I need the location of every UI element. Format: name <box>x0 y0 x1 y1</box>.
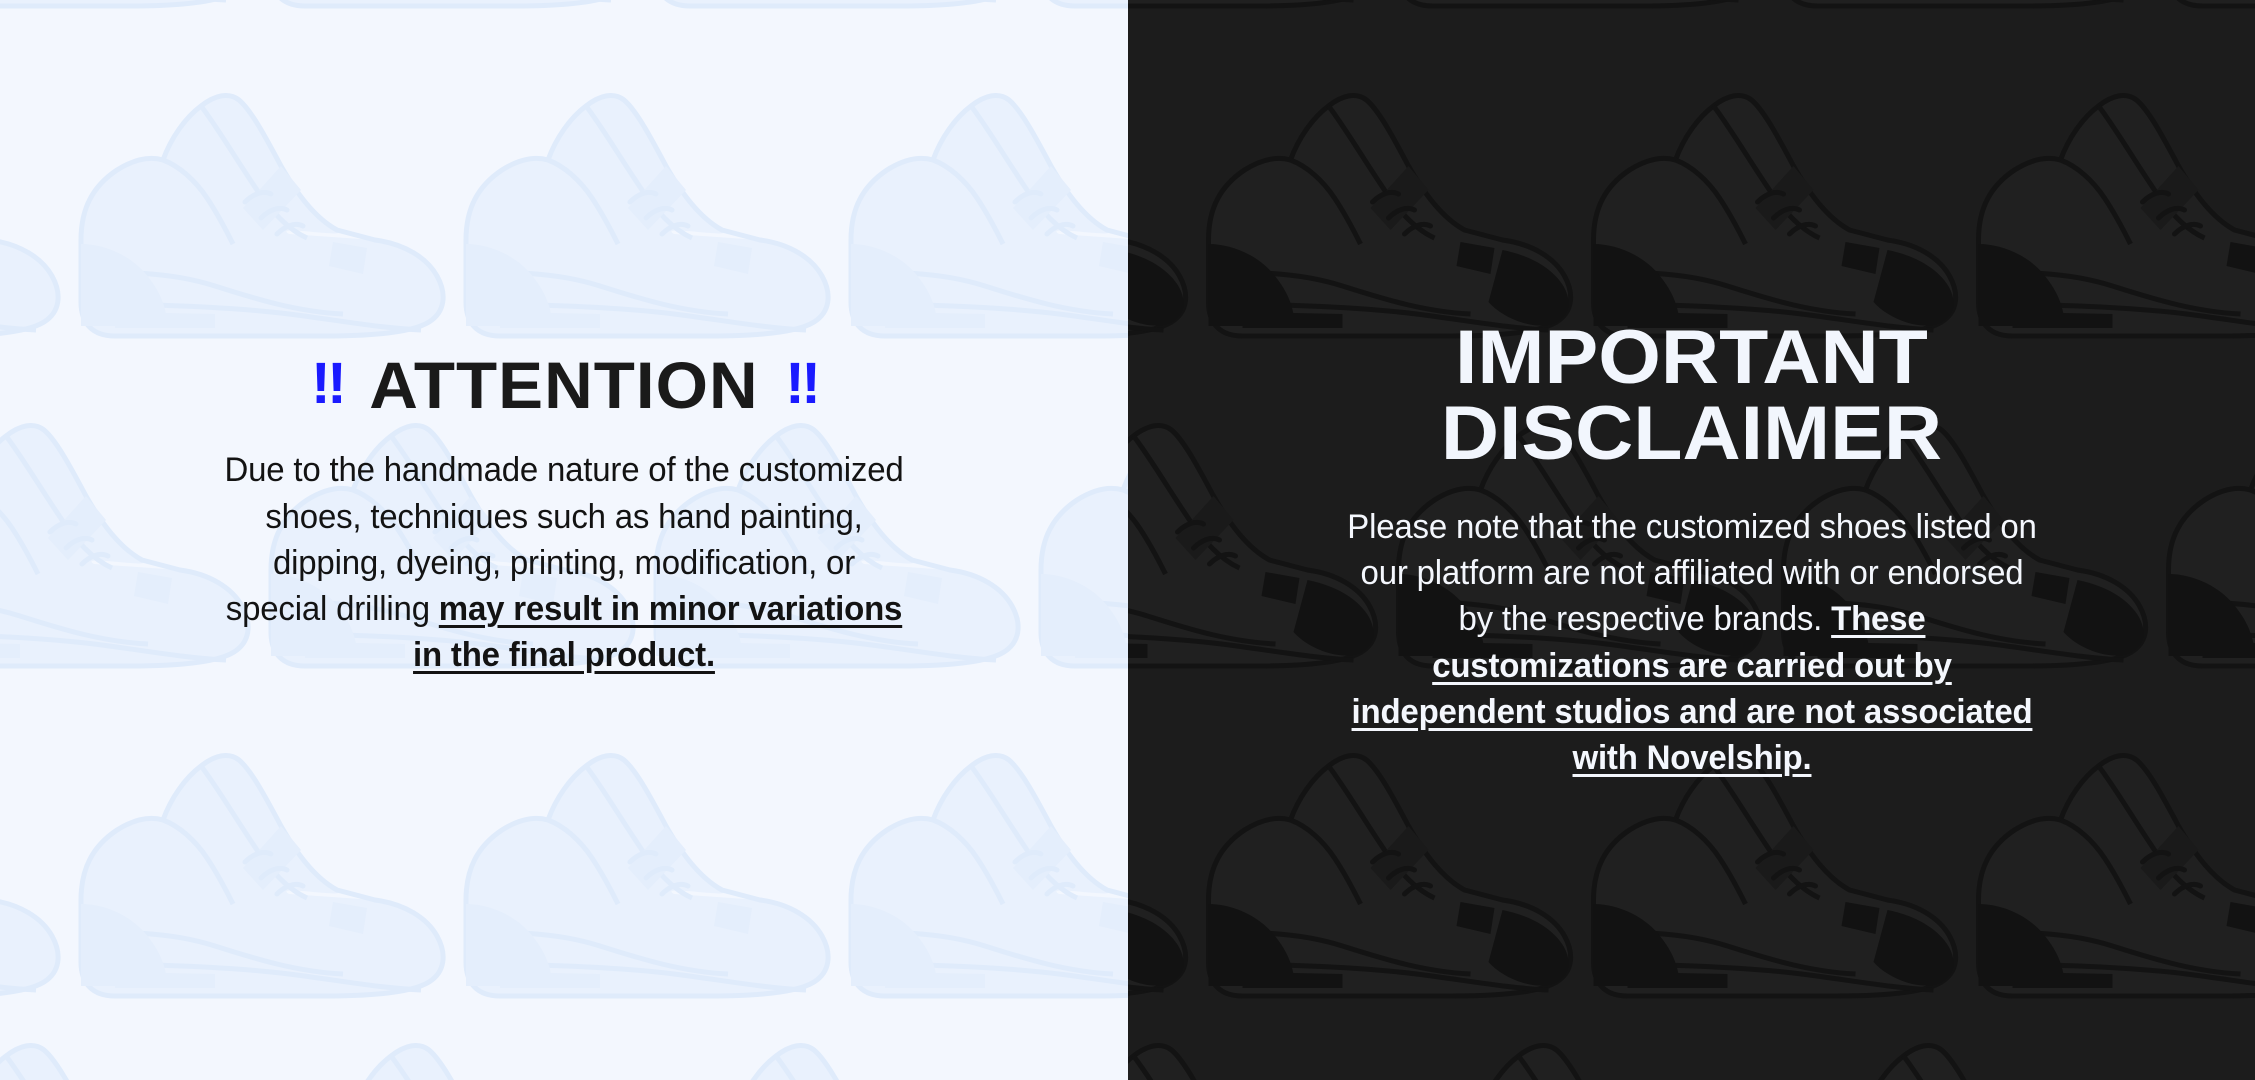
attention-body-emphasis: may result in minor variations in the fi… <box>413 590 902 674</box>
double-exclamation-left-icon: ‼ <box>311 355 343 413</box>
disclaimer-heading: IMPORTANT DISCLAIMER <box>1441 320 1942 472</box>
attention-panel: ‼ ATTENTION ‼ Due to the handmade nature… <box>0 0 1128 1080</box>
disclaimer-panel: IMPORTANT DISCLAIMER Please note that th… <box>1128 0 2255 1080</box>
disclaimer-body-normal: Please note that the customized shoes li… <box>1347 508 2036 638</box>
attention-content: ‼ ATTENTION ‼ Due to the handmade nature… <box>0 0 1128 678</box>
disclaimer-heading-line2: DISCLAIMER <box>1441 391 1942 476</box>
split-disclaimer-banner: ‼ ATTENTION ‼ Due to the handmade nature… <box>0 0 2255 1080</box>
attention-body: Due to the handmade nature of the custom… <box>225 447 904 678</box>
double-exclamation-right-icon: ‼ <box>785 355 817 413</box>
attention-heading: ‼ ATTENTION ‼ <box>311 352 817 419</box>
attention-heading-text: ATTENTION <box>369 352 758 419</box>
disclaimer-content: IMPORTANT DISCLAIMER Please note that th… <box>1128 0 2255 781</box>
disclaimer-body: Please note that the customized shoes li… <box>1342 504 2040 781</box>
disclaimer-heading-line1: IMPORTANT <box>1455 315 1928 400</box>
